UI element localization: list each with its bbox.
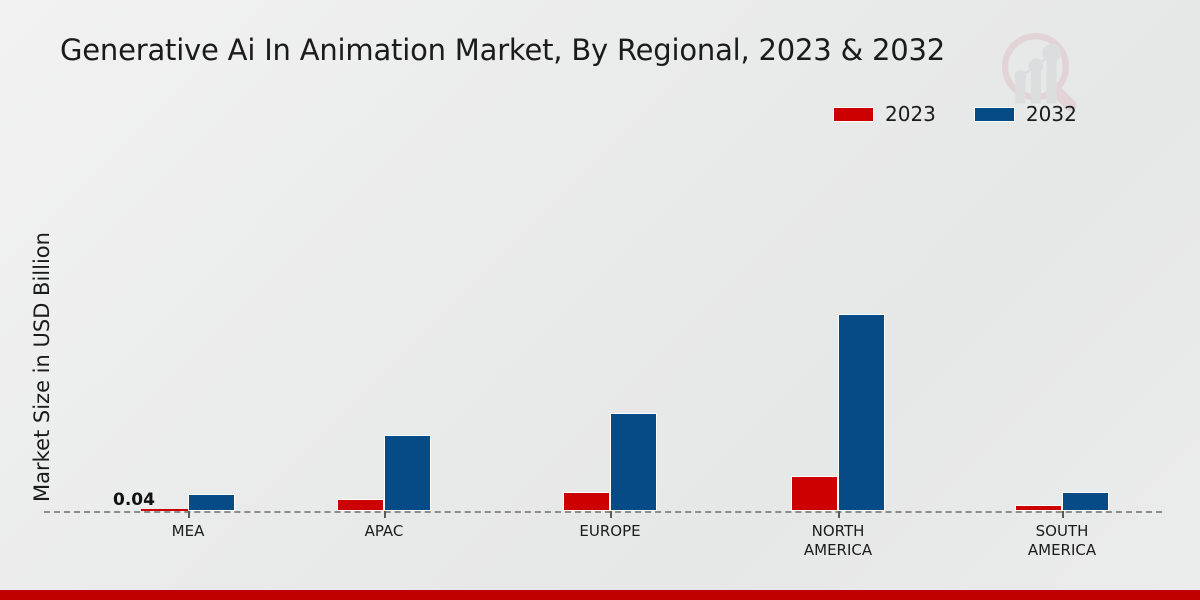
category-label-south-america: SOUTH AMERICA [962,522,1162,560]
bar-apac-2023[interactable] [337,499,384,511]
x-tick-apac [384,511,386,518]
category-label-europe: EUROPE [510,522,710,541]
bar-north-america-2032[interactable] [838,314,885,511]
category-label-north-america-line2: AMERICA [738,541,938,560]
category-label-apac-line1: APAC [284,522,484,541]
bar-group-europe [563,0,657,600]
bar-europe-2023[interactable] [563,492,610,511]
x-tick-europe [610,511,612,518]
bar-south-america-2023[interactable] [1015,505,1062,511]
bar-south-america-2032[interactable] [1062,492,1109,511]
bar-europe-2032[interactable] [610,413,657,511]
category-label-north-america: NORTH AMERICA [738,522,938,560]
category-label-europe-line1: EUROPE [510,522,710,541]
chart-canvas: Generative Ai In Animation Market, By Re… [0,0,1200,600]
category-label-south-america-line1: SOUTH [962,522,1162,541]
category-label-north-america-line1: NORTH [738,522,938,541]
x-tick-south-america [1062,511,1064,518]
bar-north-america-2023[interactable] [791,476,838,511]
data-label-mea-2023: 0.04 [113,490,155,510]
x-tick-mea [188,511,190,518]
bar-apac-2032[interactable] [384,435,431,511]
bar-group-mea [141,0,235,600]
bar-group-north-america [791,0,885,600]
bar-group-south-america [1015,0,1109,600]
bar-group-apac [337,0,431,600]
x-tick-north-america [838,511,840,518]
category-label-mea-line1: MEA [88,522,288,541]
bar-mea-2032[interactable] [188,494,235,511]
category-label-south-america-line2: AMERICA [962,541,1162,560]
category-label-mea: MEA [88,522,288,541]
bottom-accent-bar [0,590,1200,600]
category-label-apac: APAC [284,522,484,541]
plot-area: 0.04 MEA APAC EUROPE [0,0,1200,600]
